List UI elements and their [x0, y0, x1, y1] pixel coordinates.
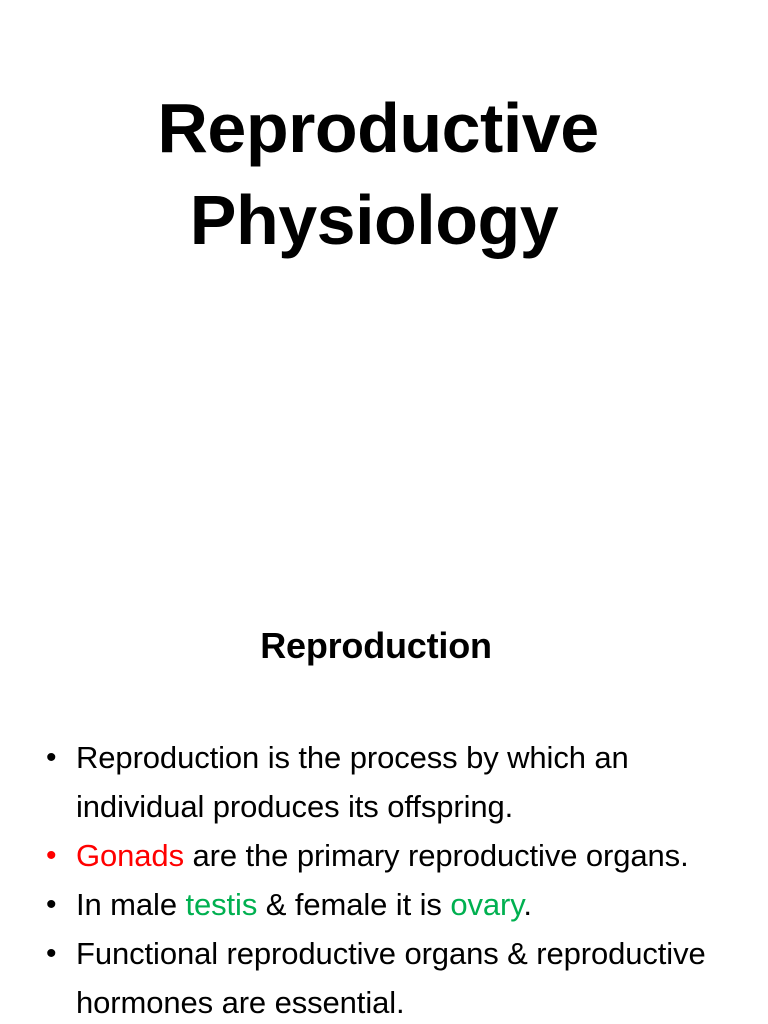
bullet-text: In male testis & female it is ovary.	[76, 887, 532, 922]
bullet-item: •Reproduction is the process by which an…	[40, 733, 730, 831]
bullet-marker-icon: •	[46, 929, 66, 978]
bullet-item: •Gonads are the primary reproductive org…	[40, 831, 730, 880]
bullet-text-run: In male	[76, 887, 185, 922]
bullet-item: •Functional reproductive organs & reprod…	[40, 929, 730, 1024]
bullet-text: Gonads are the primary reproductive orga…	[76, 838, 689, 873]
bullet-text-run: testis	[185, 887, 257, 922]
bullet-item: •In male testis & female it is ovary.	[40, 880, 730, 929]
title-line-1: Reproductive	[0, 82, 768, 174]
section-heading-reproduction: Reproduction	[0, 624, 768, 667]
bullet-marker-icon: •	[46, 831, 66, 880]
bullet-text-run: & female it is	[257, 887, 450, 922]
bullet-text: Reproduction is the process by which an …	[76, 740, 629, 824]
bullet-text-run: Gonads	[76, 838, 184, 873]
title-line-2: Physiology	[0, 174, 768, 266]
bullet-text-run: Functional reproductive organs & reprodu…	[76, 936, 706, 1020]
bullet-marker-icon: •	[46, 733, 66, 782]
slide-title: Reproductive Physiology	[0, 82, 768, 267]
bullet-text-run: .	[523, 887, 532, 922]
bullet-text: Functional reproductive organs & reprodu…	[76, 936, 706, 1020]
slide-page: Reproductive Physiology Reproduction •Re…	[0, 0, 768, 1024]
bullet-list: •Reproduction is the process by which an…	[40, 733, 730, 1024]
bullet-text-run: are the primary reproductive organs.	[184, 838, 689, 873]
bullet-text-run: ovary	[450, 887, 523, 922]
bullet-text-run: Reproduction is the process by which an …	[76, 740, 629, 824]
bullet-marker-icon: •	[46, 880, 66, 929]
